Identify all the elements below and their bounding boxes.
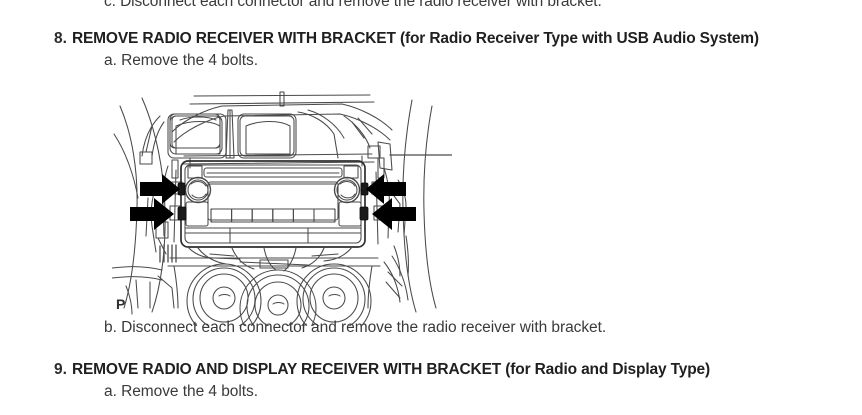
step-8-heading: 8. REMOVE RADIO RECEIVER WITH BRACKET (f… (54, 30, 759, 48)
center-dash-air-vents (140, 92, 392, 170)
arrow-upper-right (366, 174, 406, 204)
arrow-lower-right (372, 198, 416, 230)
radio-receiver-dashboard-diagram (112, 86, 452, 326)
figure-callout-p: P (116, 296, 125, 312)
step-9-number: 9. (54, 361, 67, 379)
step-9-substep-a: a. Remove the 4 bolts. (104, 383, 258, 401)
step-9-heading: 9. REMOVE RADIO AND DISPLAY RECEIVER WIT… (54, 361, 710, 379)
step-8-number: 8. (54, 30, 67, 48)
document-page: c. Disconnect each connector and remove … (0, 0, 862, 415)
hvac-control-knob-right (297, 264, 371, 326)
radio-receiver-faceplate (181, 161, 365, 247)
step-8-substep-b: b. Disconnect each connector and remove … (104, 319, 606, 337)
step-8-title: REMOVE RADIO RECEIVER WITH BRACKET (for … (72, 30, 759, 48)
step-9-title: REMOVE RADIO AND DISPLAY RECEIVER WITH B… (72, 361, 710, 379)
clipped-previous-substep: c. Disconnect each connector and remove … (104, 0, 602, 11)
hvac-control-panel (168, 258, 380, 326)
left-volume-knob (186, 178, 211, 203)
right-trim-panel (394, 100, 436, 312)
hvac-control-knob-left (187, 264, 261, 326)
step-8-substep-a: a. Remove the 4 bolts. (104, 52, 258, 70)
cd-slot (204, 168, 342, 177)
harness-under-radio (188, 247, 352, 271)
